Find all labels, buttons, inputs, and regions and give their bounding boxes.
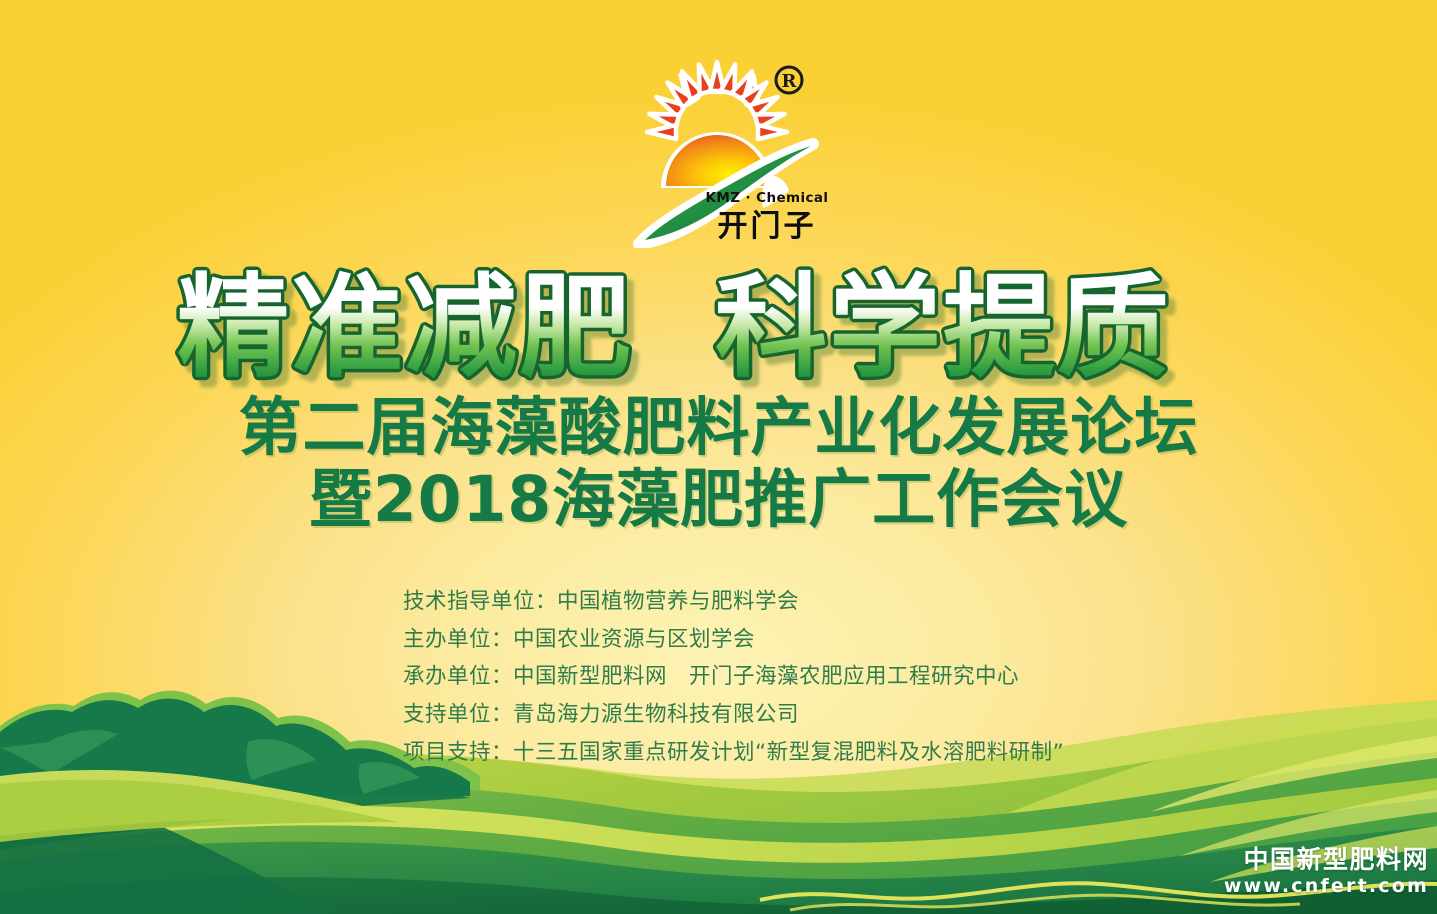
event-subtitle: 第二届海藻酸肥料产业化发展论坛 暨2018海藻肥推广工作会议: [0, 396, 1437, 533]
svg-text:R: R: [782, 71, 798, 92]
sun-rays-icon: [647, 62, 787, 139]
watermark-url: www.cnfert.com: [1224, 877, 1429, 896]
info-line-technical-guidance: 技术指导单位：中国植物营养与肥料学会: [403, 583, 1064, 621]
main-slogan: 精准减肥 科学提质: [0, 262, 1437, 392]
subtitle-line-1: 第二届海藻酸肥料产业化发展论坛: [0, 396, 1437, 460]
subtitle-line-2: 暨2018海藻肥推广工作会议: [0, 468, 1437, 532]
kmz-logo: R KMZ · Chemical 开门子: [617, 58, 832, 248]
slogan-part1: 精准减肥: [177, 263, 633, 393]
slogan-part2: 科学提质: [715, 263, 1171, 393]
info-line-supporter: 支持单位：青岛海力源生物科技有限公司: [403, 696, 1064, 734]
info-line-organizer: 承办单位：中国新型肥料网 开门子海藻农肥应用工程研究中心: [403, 658, 1064, 696]
watermark-site-name: 中国新型肥料网: [1224, 847, 1429, 872]
logo-brand-cn: 开门子: [718, 209, 817, 244]
info-line-host: 主办单位：中国农业资源与区划学会: [403, 621, 1064, 659]
poster-canvas: R KMZ · Chemical 开门子: [0, 0, 1437, 914]
organizer-info-block: 技术指导单位：中国植物营养与肥料学会 主办单位：中国农业资源与区划学会 承办单位…: [403, 583, 1064, 771]
site-watermark: 中国新型肥料网 www.cnfert.com: [1224, 847, 1429, 896]
info-line-project-support: 项目支持：十三五国家重点研发计划“新型复混肥料及水溶肥料研制”: [403, 734, 1064, 772]
registered-trademark-icon: R: [776, 67, 802, 93]
logo-brand-en: KMZ · Chemical: [706, 190, 829, 206]
